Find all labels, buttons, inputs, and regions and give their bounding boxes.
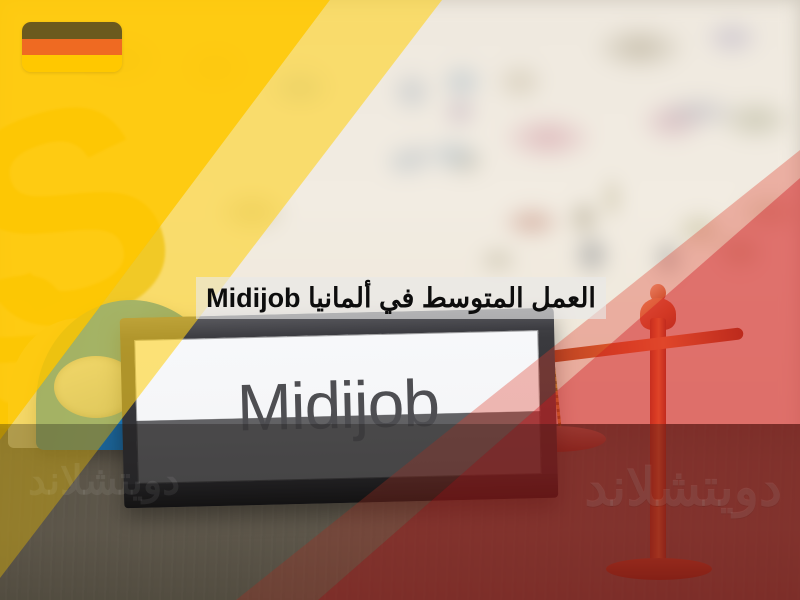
scales-base	[606, 558, 712, 580]
binder-label-plate: Midijob	[134, 330, 541, 484]
document-binder: Midijob	[120, 308, 559, 509]
scales-of-justice	[598, 276, 800, 586]
flag-stripe-black	[22, 22, 122, 39]
hero-banner: S S Midijob دويتشلاند دويتشلاند العم	[0, 0, 800, 600]
scales-post	[650, 318, 666, 564]
binder-label-text: Midijob	[134, 330, 541, 484]
headline-band: العمل المتوسط في ألمانيا Midijob	[196, 277, 606, 319]
flag-stripe-gold	[22, 55, 122, 72]
flag-stripe-red	[22, 39, 122, 56]
page-title: العمل المتوسط في ألمانيا Midijob	[206, 285, 596, 312]
germany-flag-icon	[22, 22, 122, 72]
